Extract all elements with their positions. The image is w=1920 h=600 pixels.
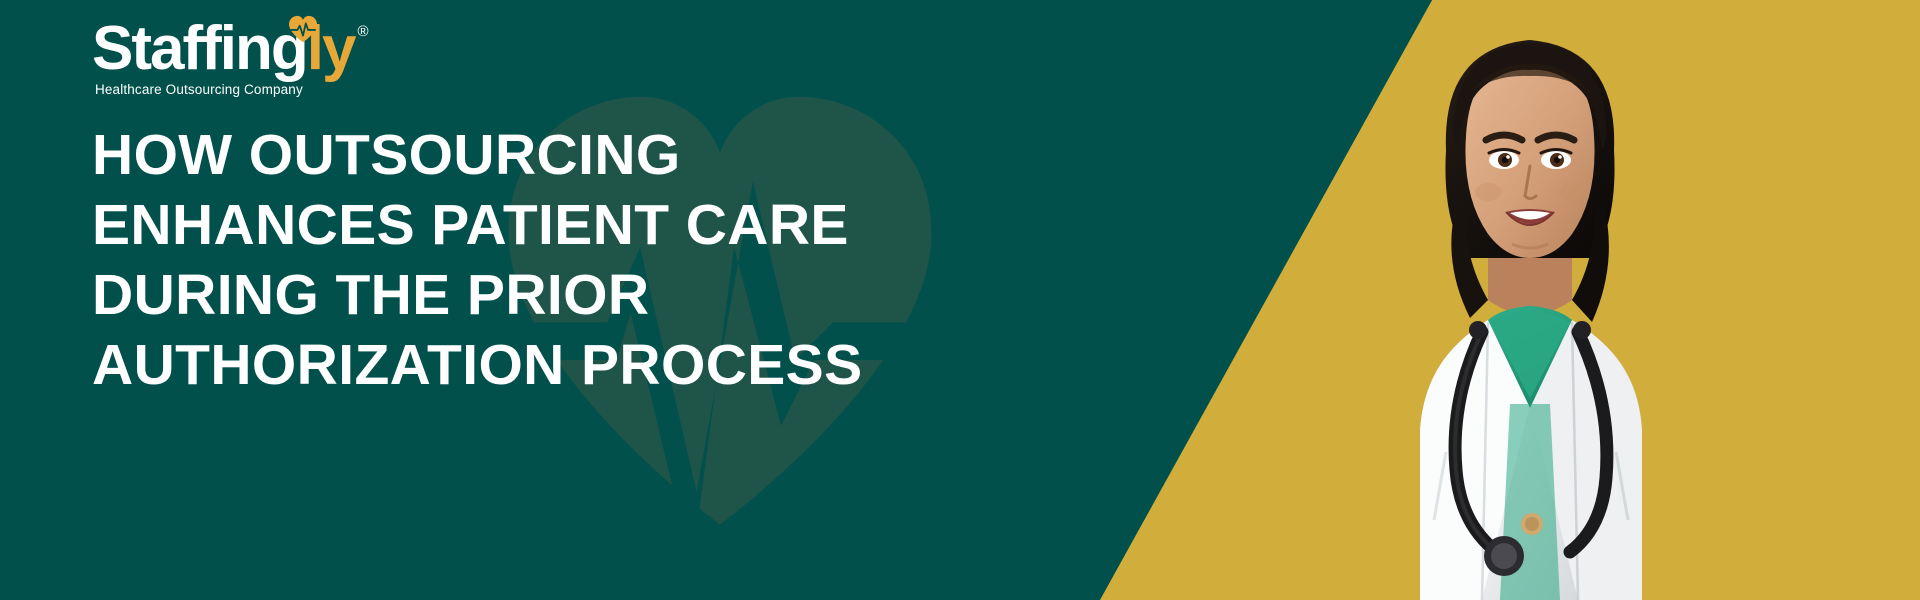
staffingly-logo[interactable]: Staffing ly ® Healthcare Outsourcing Com… (92, 18, 512, 97)
headline-line-3: DURING THE PRIOR (92, 260, 1052, 330)
page-title: HOW OUTSOURCING ENHANCES PATIENT CARE DU… (92, 120, 1052, 400)
headline-line-4: AUTHORIZATION PROCESS (92, 330, 1052, 400)
registered-trademark-icon: ® (357, 24, 368, 39)
marketing-banner: Staffing ly ® Healthcare Outsourcing Com… (0, 0, 1920, 600)
logo-text-primary: Staffing (92, 18, 307, 80)
heartbeat-icon (288, 15, 318, 43)
logo-tagline: Healthcare Outsourcing Company (95, 82, 512, 97)
logo-wordmark: Staffing ly ® (92, 18, 512, 80)
headline-line-1: HOW OUTSOURCING (92, 120, 1052, 190)
headline-line-2: ENHANCES PATIENT CARE (92, 190, 1052, 260)
